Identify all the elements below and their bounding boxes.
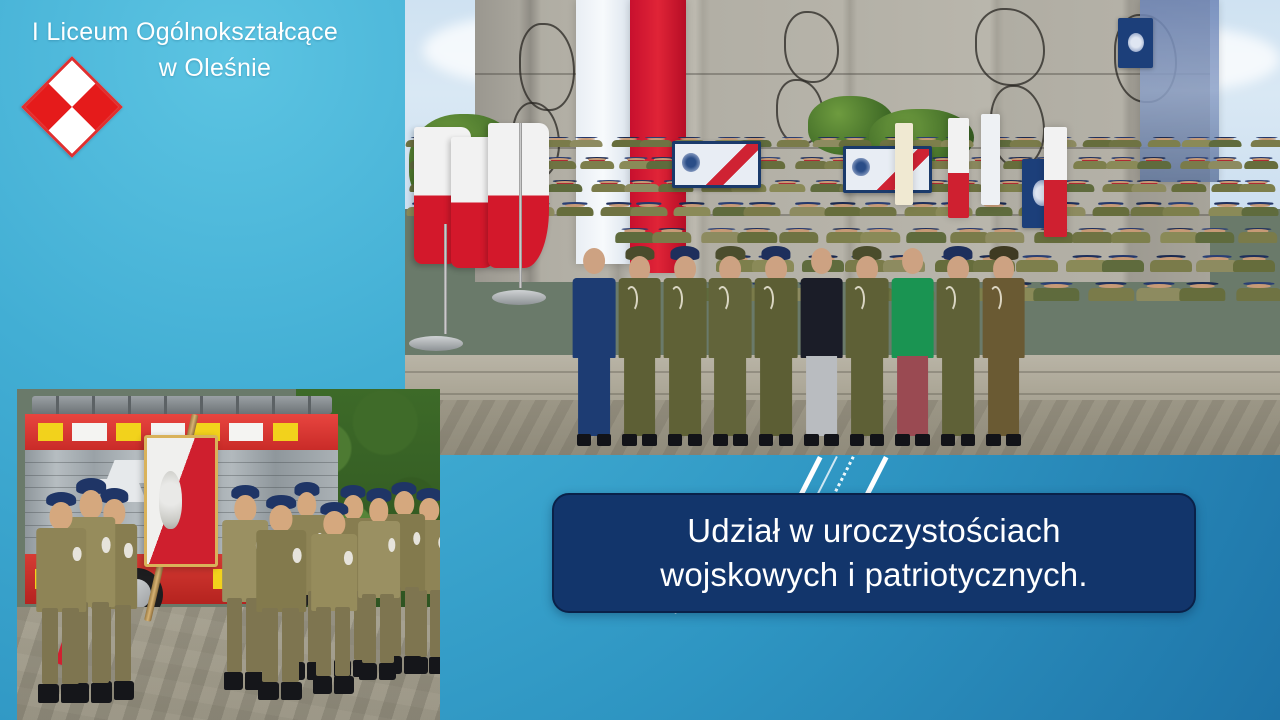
rail-rung xyxy=(56,396,59,415)
cadet-uniform xyxy=(1244,161,1278,169)
rail-rung xyxy=(308,396,311,415)
official-legs xyxy=(669,356,701,436)
unit-banner xyxy=(1118,18,1153,68)
cadet-uniform xyxy=(1137,161,1171,169)
shoe xyxy=(688,434,703,446)
shoe xyxy=(779,434,794,446)
cadet-uniform xyxy=(737,232,776,243)
official-figure xyxy=(890,246,936,446)
rail-rung xyxy=(200,396,203,415)
cadet-uniform xyxy=(1089,288,1134,301)
official-torso xyxy=(573,278,616,358)
official-figure xyxy=(708,246,754,446)
cadet-uniform xyxy=(1102,260,1144,272)
cadet-uniform xyxy=(770,184,805,192)
official-figure xyxy=(662,246,708,446)
cadet-uniform xyxy=(1150,260,1192,272)
diamond-shape xyxy=(21,56,123,158)
boot xyxy=(91,683,112,703)
cadet-uniform xyxy=(624,184,659,192)
rail-rung xyxy=(236,396,239,415)
shoe xyxy=(597,434,612,446)
shoe xyxy=(895,434,910,446)
cadet-uniform xyxy=(1073,232,1112,243)
cadet-uniform xyxy=(907,232,946,243)
cadet-leg xyxy=(42,608,58,684)
cadet-leg xyxy=(430,590,440,657)
official-legs xyxy=(897,356,929,436)
boot xyxy=(334,676,353,693)
cadet-head xyxy=(270,505,293,532)
unit-patch-icon xyxy=(72,547,81,562)
cadet-uniform xyxy=(1162,207,1199,216)
shoe xyxy=(961,434,976,446)
cadet-leg xyxy=(316,607,331,676)
school-diamond-logo xyxy=(22,57,122,157)
cadet-uniform xyxy=(1108,140,1141,147)
reflective-marker xyxy=(229,423,263,441)
cadet-leg xyxy=(405,587,419,656)
cadet-uniform xyxy=(859,207,896,216)
shoe xyxy=(622,434,637,446)
truck-roof-rail xyxy=(32,396,332,415)
cadet-leg xyxy=(62,608,78,684)
boot xyxy=(224,672,243,690)
cadet-uniform xyxy=(311,534,357,611)
official-torso xyxy=(982,278,1025,358)
shoe xyxy=(642,434,657,446)
cadet-figure xyxy=(1033,282,1080,373)
official-torso xyxy=(709,278,752,358)
cadet-head xyxy=(324,511,345,536)
standard-flag xyxy=(948,118,969,218)
standard-flag-cream xyxy=(895,123,913,205)
cadet-uniform xyxy=(640,140,673,147)
shoe xyxy=(1006,434,1021,446)
aiguillette xyxy=(716,286,729,312)
photo-content-ceremony xyxy=(405,0,1280,455)
shoe xyxy=(713,434,728,446)
official-torso xyxy=(800,278,843,358)
cadet-leg xyxy=(335,607,350,676)
cadet-uniform xyxy=(580,161,614,169)
rail-rung xyxy=(92,396,95,415)
flag-pole-base xyxy=(409,336,463,351)
official-head xyxy=(902,248,924,274)
reflective-marker xyxy=(273,423,298,441)
official-legs xyxy=(851,356,883,436)
shoe xyxy=(915,434,930,446)
shoe xyxy=(870,434,885,446)
marching-cadets-photo xyxy=(17,389,440,720)
cadet-figure xyxy=(1235,282,1280,373)
cadet-leg xyxy=(227,598,242,672)
official-torso xyxy=(891,278,934,358)
cadet-leg xyxy=(362,594,376,663)
commemorative-plaque xyxy=(672,141,761,188)
shoe xyxy=(577,434,592,446)
official-legs xyxy=(715,356,747,436)
boot xyxy=(313,676,332,693)
boot xyxy=(38,684,59,703)
official-figure xyxy=(571,246,617,446)
cadet-uniform xyxy=(860,232,899,243)
boot xyxy=(379,663,397,680)
caption-line-2: wojskowych i patriotycznych. xyxy=(660,553,1087,597)
cadet-leg xyxy=(262,608,278,682)
cadet-head xyxy=(50,502,73,530)
boot xyxy=(281,682,302,700)
reflective-marker xyxy=(72,423,106,441)
cadet-uniform xyxy=(1209,140,1242,147)
boot xyxy=(61,684,82,703)
reflective-marker xyxy=(38,423,63,441)
eagle-emblem xyxy=(159,471,182,529)
boot xyxy=(258,682,279,700)
polish-standard-flag xyxy=(144,435,218,567)
presentation-slide: I Liceum Ogólnokształcące w Oleśnie xyxy=(0,0,1280,720)
caption-line-1: Udział w uroczystościach xyxy=(660,509,1087,553)
marching-cadet xyxy=(309,502,360,694)
cadet-uniform xyxy=(1009,140,1042,147)
aiguillette xyxy=(625,286,638,312)
cadet-uniform xyxy=(547,184,582,192)
cadet-uniform xyxy=(1233,260,1275,272)
caption-box[interactable]: Udział w uroczystościach wojskowych i pa… xyxy=(552,493,1196,613)
cadet-uniform xyxy=(702,232,741,243)
official-figure xyxy=(753,246,799,446)
cadet-uniform xyxy=(1172,184,1207,192)
cadet-leg xyxy=(380,594,394,663)
official-figure xyxy=(935,246,981,446)
shoe xyxy=(850,434,865,446)
flag-pole-base xyxy=(492,290,546,305)
cadet-figure xyxy=(1136,282,1183,373)
caption-text: Udział w uroczystościach wojskowych i pa… xyxy=(642,509,1105,597)
cadet-uniform xyxy=(1208,207,1245,216)
cadet-uniform xyxy=(615,232,654,243)
boot xyxy=(404,656,422,673)
official-legs xyxy=(806,356,838,436)
unit-patch-icon xyxy=(292,548,301,562)
aiguillette xyxy=(989,286,1002,312)
rail-rung xyxy=(128,396,131,415)
shoe xyxy=(733,434,748,446)
cadet-uniform xyxy=(592,184,627,192)
official-figure xyxy=(981,246,1027,446)
cadet-uniform xyxy=(1209,161,1243,169)
flag-pole xyxy=(444,224,447,334)
shoe xyxy=(759,434,774,446)
cadet-uniform xyxy=(570,140,603,147)
cadet-uniform xyxy=(556,207,593,216)
cadet-uniform xyxy=(358,521,400,598)
marching-cadet xyxy=(34,492,89,704)
cadet-figure xyxy=(1088,282,1135,373)
cadet-uniform xyxy=(1180,288,1225,301)
official-torso xyxy=(664,278,707,358)
shoe xyxy=(824,434,839,446)
cadet-uniform xyxy=(257,530,306,612)
ceremony-group-photo xyxy=(405,0,1280,455)
cadet-uniform xyxy=(1074,161,1108,169)
photo-content-marching xyxy=(17,389,440,720)
polish-flag-on-pole xyxy=(488,123,549,269)
standard-flag xyxy=(1044,127,1067,236)
cadet-uniform xyxy=(1132,184,1167,192)
shoe xyxy=(668,434,683,446)
cadet-uniform xyxy=(630,207,667,216)
standard-flag-white xyxy=(981,114,1000,205)
official-torso xyxy=(846,278,889,358)
cadet-uniform xyxy=(744,207,781,216)
cadet-uniform xyxy=(1148,140,1181,147)
boot xyxy=(429,657,440,674)
shoe xyxy=(941,434,956,446)
cadet-uniform xyxy=(779,232,818,243)
official-legs xyxy=(624,356,656,436)
official-head xyxy=(811,248,833,274)
shoe xyxy=(804,434,819,446)
shoe xyxy=(986,434,1001,446)
polish-flag-on-pole xyxy=(423,264,467,328)
cadet-uniform xyxy=(1242,207,1279,216)
official-legs xyxy=(988,356,1020,436)
cadet-uniform xyxy=(1034,288,1079,301)
cadet-uniform xyxy=(1236,288,1280,301)
cadet-uniform xyxy=(976,207,1013,216)
cadet-uniform xyxy=(1251,140,1280,147)
unit-patch-icon xyxy=(102,537,111,553)
cadet-uniform xyxy=(777,140,810,147)
cadet-uniform xyxy=(1111,232,1150,243)
cadet-head xyxy=(235,495,256,522)
flag-pole xyxy=(519,123,522,288)
cadet-figure xyxy=(1179,282,1226,373)
cadet-uniform xyxy=(1106,161,1140,169)
cadet-uniform xyxy=(1137,288,1182,301)
official-figure xyxy=(617,246,663,446)
cadet-uniform xyxy=(1240,184,1275,192)
official-figure xyxy=(844,246,890,446)
official-legs xyxy=(942,356,974,436)
cadet-leg xyxy=(282,608,298,682)
plaque-seal xyxy=(852,158,870,177)
marching-cadet xyxy=(355,488,402,680)
cadet-uniform xyxy=(985,232,1024,243)
official-torso xyxy=(618,278,661,358)
cadet-uniform xyxy=(673,207,710,216)
cadet-uniform xyxy=(1092,207,1129,216)
unit-patch-icon xyxy=(124,543,132,558)
title-line-1: I Liceum Ogólnokształcące xyxy=(0,14,370,50)
rail-rung xyxy=(164,396,167,415)
official-torso xyxy=(937,278,980,358)
cadet-leg xyxy=(92,602,108,683)
cadet-uniform xyxy=(652,232,691,243)
marching-cadet xyxy=(254,495,309,700)
cadet-head xyxy=(369,498,389,523)
official-torso xyxy=(755,278,798,358)
plaque-seal xyxy=(682,153,700,172)
boot xyxy=(359,663,377,680)
cadet-uniform xyxy=(37,528,86,613)
cadet-uniform xyxy=(824,207,861,216)
unit-patch-icon xyxy=(439,536,440,549)
commemorative-plaque xyxy=(843,146,932,193)
official-head xyxy=(583,248,605,274)
cadet-uniform xyxy=(1195,232,1234,243)
rail-rung xyxy=(272,396,275,415)
official-legs xyxy=(760,356,792,436)
official-legs xyxy=(578,356,610,436)
reflective-marker xyxy=(116,423,141,441)
official-figure xyxy=(799,246,845,446)
cadet-uniform xyxy=(1238,232,1277,243)
cadet-uniform xyxy=(790,207,827,216)
